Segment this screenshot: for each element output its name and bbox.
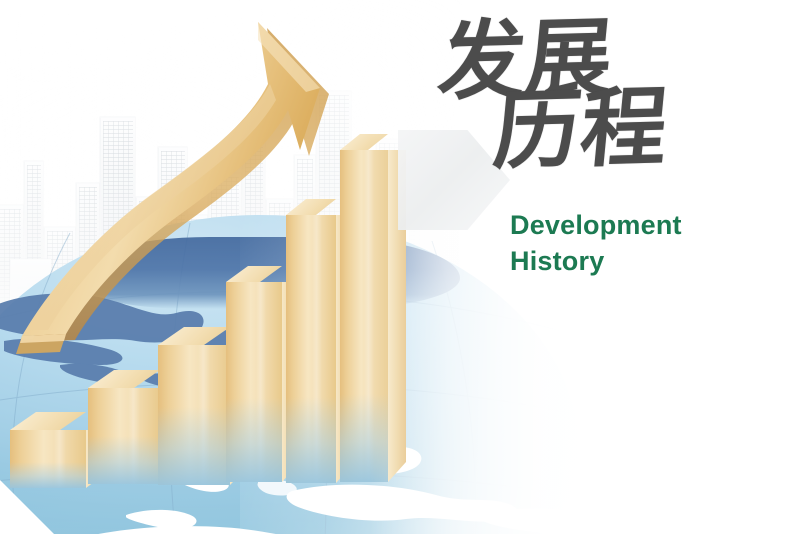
- bar-5: [286, 215, 336, 483]
- development-history-banner: 发展 历程 Development History: [0, 0, 800, 540]
- bar-1: [10, 430, 86, 488]
- title-english-line2: History: [510, 244, 790, 280]
- title-english: Development History: [510, 208, 790, 279]
- title-chinese: 发展 历程: [424, 14, 740, 175]
- bar-3: [158, 345, 230, 485]
- title-chinese-line2: 历程: [490, 85, 733, 174]
- bar-4: [226, 282, 282, 482]
- title-english-line1: Development: [510, 208, 790, 244]
- bar-2: [88, 388, 160, 484]
- bottom-white-strip: [0, 534, 800, 540]
